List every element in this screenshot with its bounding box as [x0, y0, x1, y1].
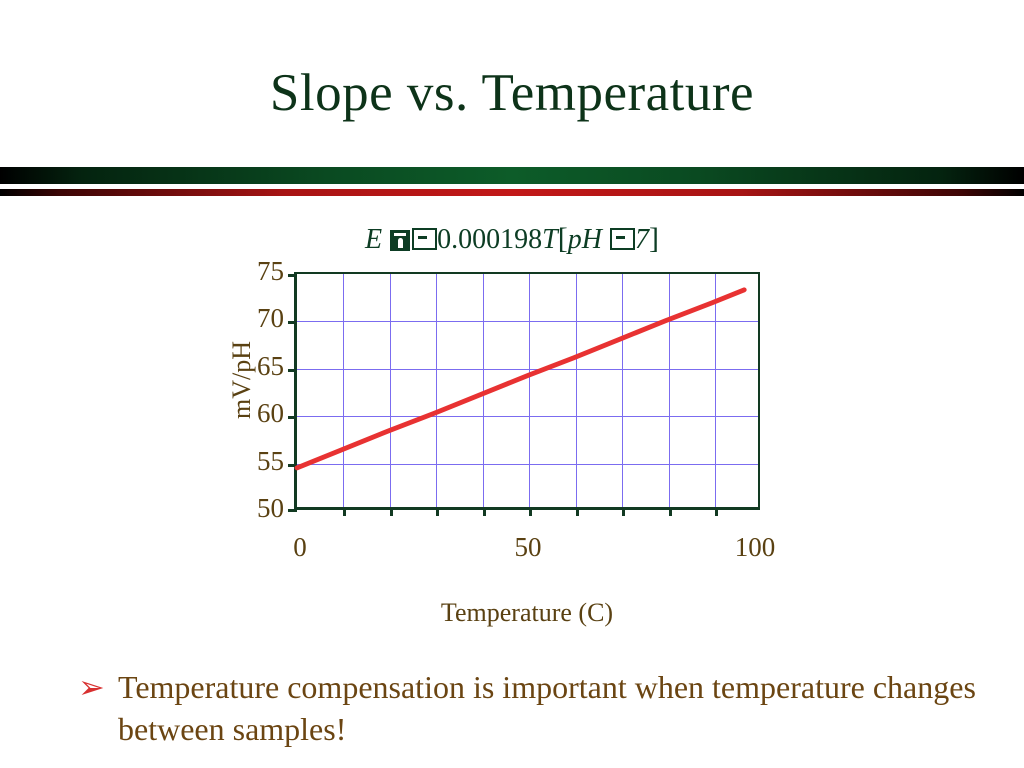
x-axis-tick — [715, 507, 718, 516]
divider-bar-green — [0, 167, 1024, 184]
x-axis-tick — [483, 507, 486, 516]
equation-variable: T — [542, 224, 558, 255]
y-axis-title: mV/pH — [228, 305, 256, 455]
y-tick-label: 75 — [222, 258, 284, 285]
y-axis-tick — [288, 369, 297, 372]
equation-bracket-close: ] — [649, 222, 659, 255]
y-tick-label: 50 — [222, 495, 284, 522]
equation-term: pH — [568, 224, 602, 255]
x-axis-tick — [576, 507, 579, 516]
x-tick-label: 100 — [695, 532, 815, 562]
equation-lead-symbol: E — [365, 224, 382, 255]
y-axis-tick — [288, 509, 297, 512]
x-axis-tick — [343, 507, 346, 516]
missing-glyph-box-outline-icon-2 — [610, 228, 635, 250]
x-axis-tick-labels: 0 50 100 — [294, 532, 760, 566]
bullet-text: Temperature compensation is important wh… — [108, 666, 978, 750]
equation-bracket-open: [ — [558, 222, 568, 255]
equation-coefficient: 0.000198 — [437, 224, 542, 255]
x-axis-tick — [622, 507, 625, 516]
missing-glyph-box-filled-icon — [390, 230, 410, 251]
chart-container: E 0.000198T[pH 7] 75 70 65 60 55 50 — [0, 206, 1024, 646]
y-axis-tick — [288, 274, 297, 277]
divider-bar-red — [0, 189, 1024, 196]
x-tick-label: 50 — [468, 532, 588, 562]
x-axis-tick — [669, 507, 672, 516]
missing-glyph-box-outline-icon — [412, 228, 437, 250]
bullet-list-item: ➢ Temperature compensation is important … — [78, 666, 978, 750]
y-axis-tick — [288, 321, 297, 324]
x-axis-tick — [529, 507, 532, 516]
x-axis-tick — [390, 507, 393, 516]
equation-constant: 7 — [635, 224, 649, 255]
bullet-arrow-icon: ➢ — [78, 666, 108, 708]
y-axis-tick — [288, 416, 297, 419]
x-axis-tick — [436, 507, 439, 516]
chart-equation: E 0.000198T[pH 7] — [0, 222, 1024, 257]
x-axis-title: Temperature (C) — [294, 598, 760, 628]
x-tick-label: 0 — [240, 532, 360, 562]
plot-area — [294, 272, 760, 510]
page-title: Slope vs. Temperature — [0, 62, 1024, 124]
data-series-line — [297, 274, 758, 507]
